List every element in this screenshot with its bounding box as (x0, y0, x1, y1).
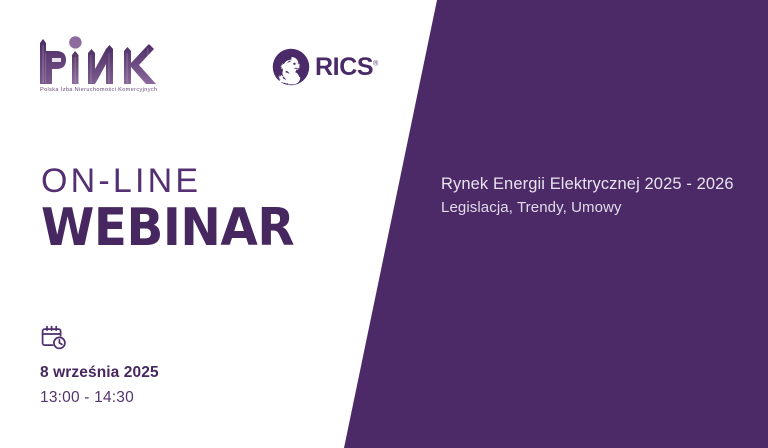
rics-registered-mark: ® (373, 60, 378, 67)
webinar-banner: Polska Izba Nieruchomości Komercyjnych (0, 0, 768, 448)
event-date: 8 września 2025 (40, 364, 159, 382)
calendar-clock-icon (40, 324, 68, 352)
pink-logo-tagline: Polska Izba Nieruchomości Komercyjnych (40, 87, 173, 93)
headline-online: ON-LINE (41, 162, 313, 200)
headline-block: ON-LINE WEBINAR (41, 162, 313, 255)
rics-logo: RICS® (272, 48, 378, 86)
headline-webinar: WEBINAR (41, 201, 294, 255)
pink-logo: Polska Izba Nieruchomości Komercyjnych (38, 33, 173, 93)
event-subtitle: Legislacja, Trendy, Umowy (441, 197, 761, 219)
rics-wordmark: RICS® (315, 55, 378, 80)
rics-wordmark-text: RICS (315, 53, 373, 81)
event-time: 13:00 - 14:30 (40, 389, 159, 407)
event-title: Rynek Energii Elektrycznej 2025 - 2026 (441, 172, 761, 196)
schedule-block: 8 września 2025 13:00 - 14:30 (40, 324, 159, 407)
rics-lion-emblem-icon (272, 48, 310, 86)
pink-logo-icon (38, 33, 168, 85)
event-info-block: Rynek Energii Elektrycznej 2025 - 2026 L… (441, 172, 761, 219)
